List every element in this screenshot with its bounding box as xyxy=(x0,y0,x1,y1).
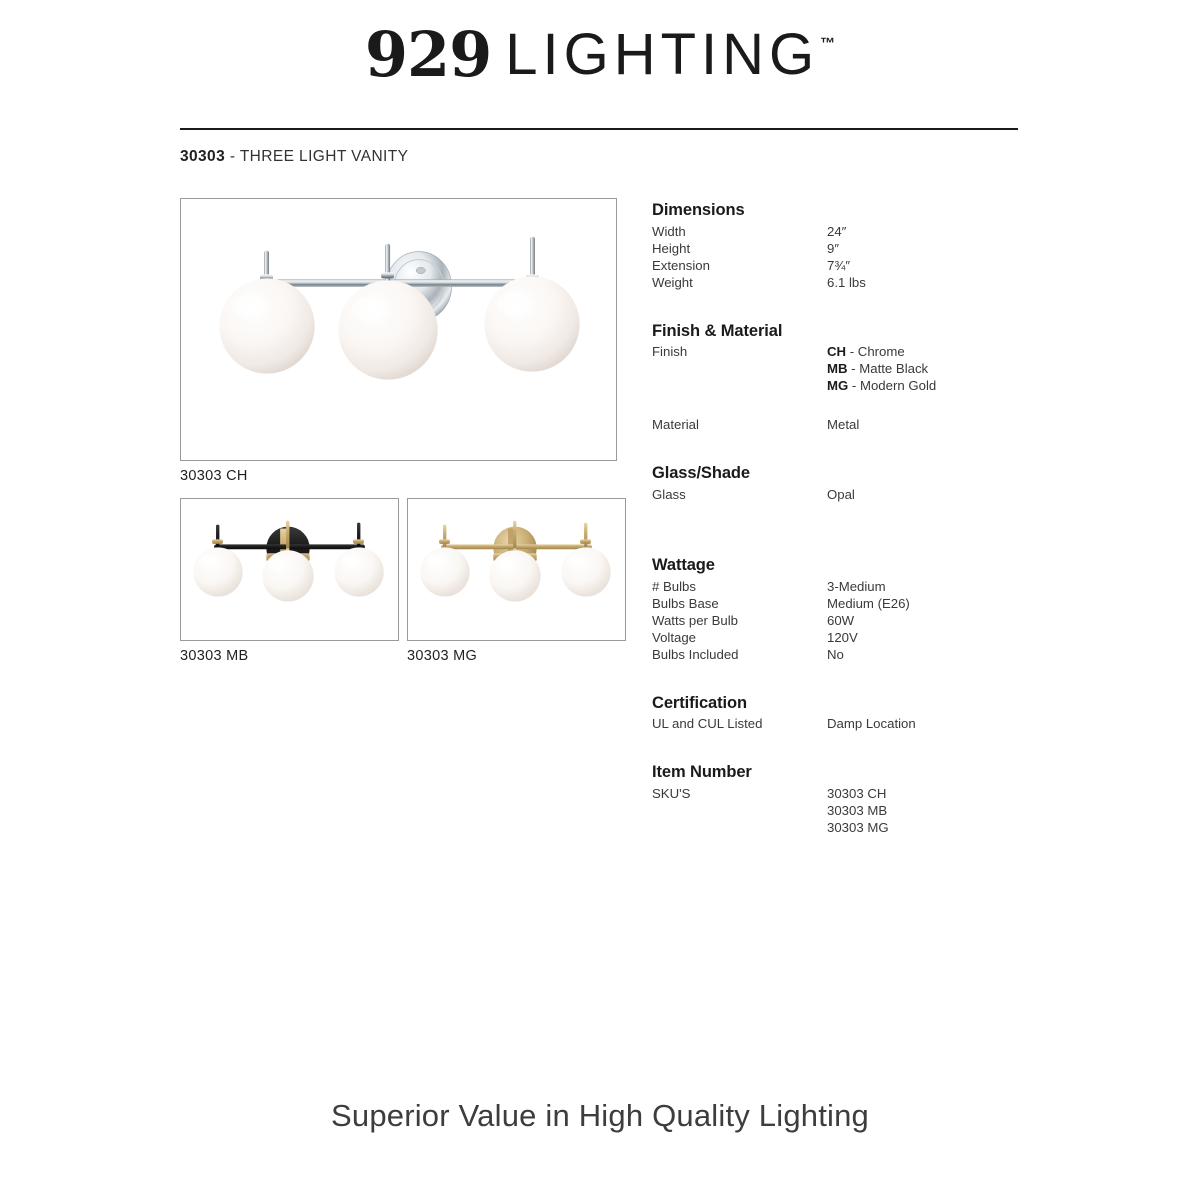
finish-dash-mb: - xyxy=(848,361,860,376)
spec-label-extension: Extension xyxy=(652,257,827,274)
spec-value-finish-mg: MG - Modern Gold xyxy=(827,377,1052,394)
finish-dash-mg: - xyxy=(848,378,860,393)
spec-row-material: Material Metal xyxy=(652,416,1052,433)
logo-wordmark: LIGHTING xyxy=(505,22,819,87)
spec-value-num-bulbs: 3-Medium xyxy=(827,578,1052,595)
finish-code-mb: MB xyxy=(827,361,848,376)
spec-label-bulbs-base: Bulbs Base xyxy=(652,595,827,612)
globe-right xyxy=(334,547,383,596)
spec-row-weight: Weight 6.1 lbs xyxy=(652,274,1052,291)
spec-label-voltage: Voltage xyxy=(652,629,827,646)
spec-row-width: Width 24″ xyxy=(652,223,1052,240)
product-description: THREE LIGHT VANITY xyxy=(240,148,409,165)
spec-value-glass: Opal xyxy=(827,486,1052,503)
globe-left xyxy=(420,547,469,596)
spec-value-bulbs-base: Medium (E26) xyxy=(827,595,1052,612)
spec-label-width: Width xyxy=(652,223,827,240)
spec-label-skus: SKU'S xyxy=(652,785,827,802)
spec-row-bulbs-included: Bulbs Included No xyxy=(652,646,1052,663)
spec-value-sku-ch: 30303 CH xyxy=(827,785,1052,802)
header-divider xyxy=(180,128,1018,130)
spec-section-certification: Certification UL and CUL Listed Damp Loc… xyxy=(652,693,1052,733)
caption-mg: 30303 MG xyxy=(407,648,477,664)
finish-name-mg: Modern Gold xyxy=(860,378,936,393)
caption-mb: 30303 MB xyxy=(180,648,249,664)
footer-tagline: Superior Value in High Quality Lighting xyxy=(0,1098,1200,1134)
spec-value-sku-mg: 30303 MG xyxy=(827,819,1052,836)
caption-ch: 30303 CH xyxy=(180,468,248,484)
product-image-mg xyxy=(407,498,626,641)
spec-row-finish-mb: MB - Matte Black xyxy=(652,360,1052,377)
spec-row-num-bulbs: # Bulbs 3-Medium xyxy=(652,578,1052,595)
spec-row-ul-cul: UL and CUL Listed Damp Location xyxy=(652,715,1052,732)
spec-label-bulbs-included: Bulbs Included xyxy=(652,646,827,663)
spec-row-glass: Glass Opal xyxy=(652,486,1052,503)
spec-value-weight: 6.1 lbs xyxy=(827,274,1052,291)
finish-code-ch: CH xyxy=(827,344,846,359)
product-image-ch xyxy=(180,198,617,461)
spec-row-extension: Extension 7¾″ xyxy=(652,257,1052,274)
spec-value-height: 9″ xyxy=(827,240,1052,257)
globe-left xyxy=(193,547,242,596)
spec-label-glass: Glass xyxy=(652,486,827,503)
spec-section-finish-material: Finish & Material Finish CH - Chrome MB … xyxy=(652,321,1052,434)
spec-section-wattage: Wattage # Bulbs 3-Medium Bulbs Base Medi… xyxy=(652,555,1052,663)
spec-row-watts-per-bulb: Watts per Bulb 60W xyxy=(652,612,1052,629)
spec-section-dimensions: Dimensions Width 24″ Height 9″ Extension… xyxy=(652,200,1052,291)
globe-right xyxy=(484,276,579,371)
spec-heading-dimensions: Dimensions xyxy=(652,200,1052,221)
spec-section-item-number: Item Number SKU'S 30303 CH 30303 MB 3030… xyxy=(652,762,1052,836)
globe-center xyxy=(338,280,437,379)
spec-label-spacer-sku-mb xyxy=(652,802,827,819)
fixture-illustration-modern-gold xyxy=(408,499,625,640)
product-code: 30303 xyxy=(180,148,225,165)
specifications-panel: Dimensions Width 24″ Height 9″ Extension… xyxy=(652,200,1052,836)
spec-value-bulbs-included: No xyxy=(827,646,1052,663)
spec-value-sku-mb: 30303 MB xyxy=(827,802,1052,819)
spec-label-finish: Finish xyxy=(652,343,827,360)
product-separator: - xyxy=(225,148,240,165)
spec-label-ul-cul: UL and CUL Listed xyxy=(652,715,827,732)
spec-row-finish-mg: MG - Modern Gold xyxy=(652,377,1052,394)
spec-value-voltage: 120V xyxy=(827,629,1052,646)
spec-row-bulbs-base: Bulbs Base Medium (E26) xyxy=(652,595,1052,612)
finish-name-ch: Chrome xyxy=(858,344,905,359)
spec-heading-certification: Certification xyxy=(652,693,1052,714)
globe-center xyxy=(489,550,540,601)
spec-row-voltage: Voltage 120V xyxy=(652,629,1052,646)
fixture-illustration-chrome xyxy=(181,199,616,460)
spec-row-finish: Finish CH - Chrome xyxy=(652,343,1052,360)
spec-value-finish-ch: CH - Chrome xyxy=(827,343,1052,360)
product-image-mb xyxy=(180,498,399,641)
spec-section-glass-shade: Glass/Shade Glass Opal xyxy=(652,463,1052,503)
spec-label-spacer-sku-mg xyxy=(652,819,827,836)
globe-right xyxy=(561,547,610,596)
spec-label-weight: Weight xyxy=(652,274,827,291)
spec-label-spacer-mg xyxy=(652,377,827,394)
finish-code-mg: MG xyxy=(827,378,848,393)
logo-number: 929 xyxy=(365,18,491,91)
spec-value-extension: 7¾″ xyxy=(827,257,1052,274)
spec-label-material: Material xyxy=(652,416,827,433)
spec-row-height: Height 9″ xyxy=(652,240,1052,257)
brand-logo: 929LIGHTING™ xyxy=(0,18,1200,91)
spec-label-watts-per-bulb: Watts per Bulb xyxy=(652,612,827,629)
globe-left xyxy=(219,278,314,373)
spec-value-finish-mb: MB - Matte Black xyxy=(827,360,1052,377)
page-title: 30303 - THREE LIGHT VANITY xyxy=(180,148,408,166)
spec-value-watts-per-bulb: 60W xyxy=(827,612,1052,629)
spec-row-sku-mb: 30303 MB xyxy=(652,802,1052,819)
trademark-symbol: ™ xyxy=(820,35,835,52)
fixture-illustration-matte-black xyxy=(181,499,398,640)
spec-heading-wattage: Wattage xyxy=(652,555,1052,576)
spec-heading-glass-shade: Glass/Shade xyxy=(652,463,1052,484)
globe-center xyxy=(262,550,313,601)
spec-heading-item-number: Item Number xyxy=(652,762,1052,783)
spec-heading-finish-material: Finish & Material xyxy=(652,321,1052,342)
spec-value-material: Metal xyxy=(827,416,1052,433)
finish-name-mb: Matte Black xyxy=(859,361,928,376)
spec-label-spacer-mb xyxy=(652,360,827,377)
spec-value-width: 24″ xyxy=(827,223,1052,240)
spec-value-ul-cul: Damp Location xyxy=(827,715,1052,732)
spec-label-num-bulbs: # Bulbs xyxy=(652,578,827,595)
spec-label-height: Height xyxy=(652,240,827,257)
spec-row-sku-mg: 30303 MG xyxy=(652,819,1052,836)
spec-row-sku-ch: SKU'S 30303 CH xyxy=(652,785,1052,802)
finish-dash-ch: - xyxy=(846,344,858,359)
